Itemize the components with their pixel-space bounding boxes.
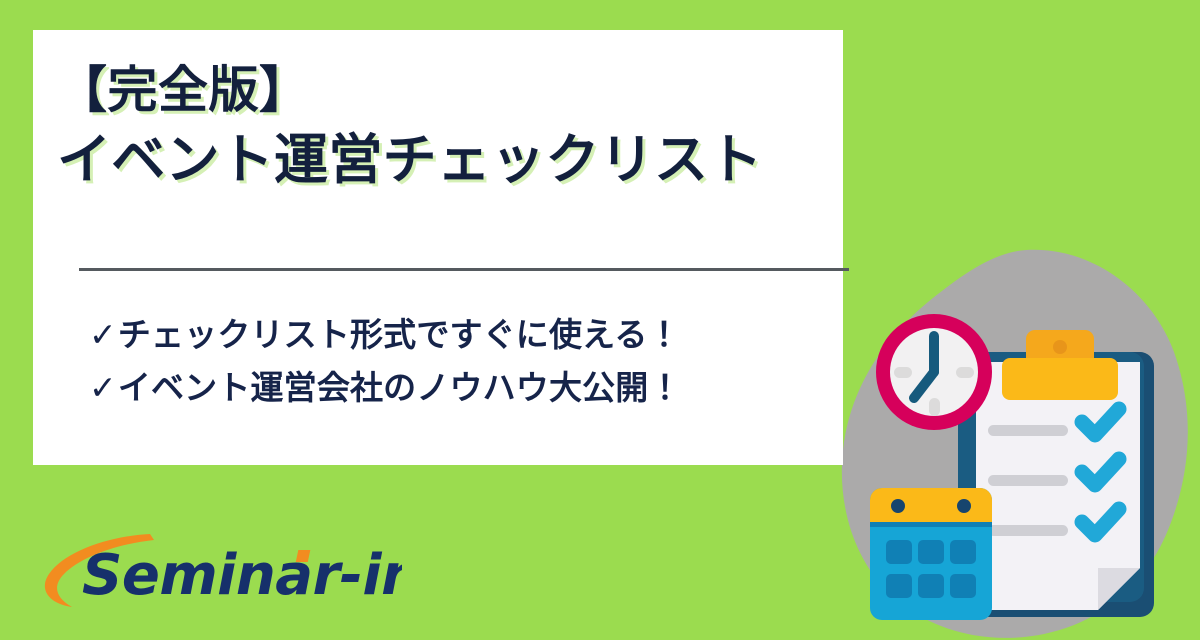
calendar-header: [870, 488, 992, 522]
seminar-info-logo: Seminar-info: [42, 528, 402, 614]
logo-i-dot: [296, 550, 311, 562]
checkmark-icon: ✓: [89, 308, 117, 361]
clock-tick-bottom: [929, 398, 940, 416]
logo-wordmark: Seminar-info: [82, 543, 402, 608]
calendar-cell: [886, 540, 912, 564]
title-divider: [79, 268, 849, 271]
paper-line: [988, 425, 1068, 436]
clock-tick-left: [894, 367, 912, 378]
list-item-label: チェックリスト形式ですぐに使える！: [118, 308, 681, 361]
paper-line: [988, 525, 1068, 536]
content-card: 【完全版】 イベント運営チェックリスト ✓ チェックリスト形式ですぐに使える！ …: [33, 30, 843, 465]
event-checklist-illustration: [830, 230, 1200, 640]
clipboard-clip-base: [1002, 358, 1118, 400]
calendar-divider: [870, 522, 992, 527]
list-item-label: イベント運営会社のノウハウ大公開！: [118, 361, 682, 414]
clipboard-clip-hole: [1053, 340, 1067, 354]
list-item: ✓ チェックリスト形式ですぐに使える！: [89, 308, 829, 361]
promo-banner: 【完全版】 イベント運営チェックリスト ✓ チェックリスト形式ですぐに使える！ …: [0, 0, 1200, 640]
calendar-cell: [950, 574, 976, 598]
kicker-text: 【完全版】: [57, 62, 827, 118]
checkmark-icon: ✓: [89, 361, 117, 414]
paper-line: [988, 475, 1068, 486]
list-item: ✓ イベント運営会社のノウハウ大公開！: [89, 361, 829, 414]
calendar-ring-dot: [891, 499, 905, 513]
headline-block: 【完全版】 イベント運営チェックリスト: [57, 62, 827, 190]
calendar-cell: [918, 574, 944, 598]
page-title: イベント運営チェックリスト: [57, 130, 827, 190]
clock-tick-right: [956, 367, 974, 378]
calendar-cell: [886, 574, 912, 598]
benefit-list: ✓ チェックリスト形式ですぐに使える！ ✓ イベント運営会社のノウハウ大公開！: [89, 308, 829, 415]
calendar-ring-dot: [957, 499, 971, 513]
calendar-cell: [950, 540, 976, 564]
calendar-cell: [918, 540, 944, 564]
